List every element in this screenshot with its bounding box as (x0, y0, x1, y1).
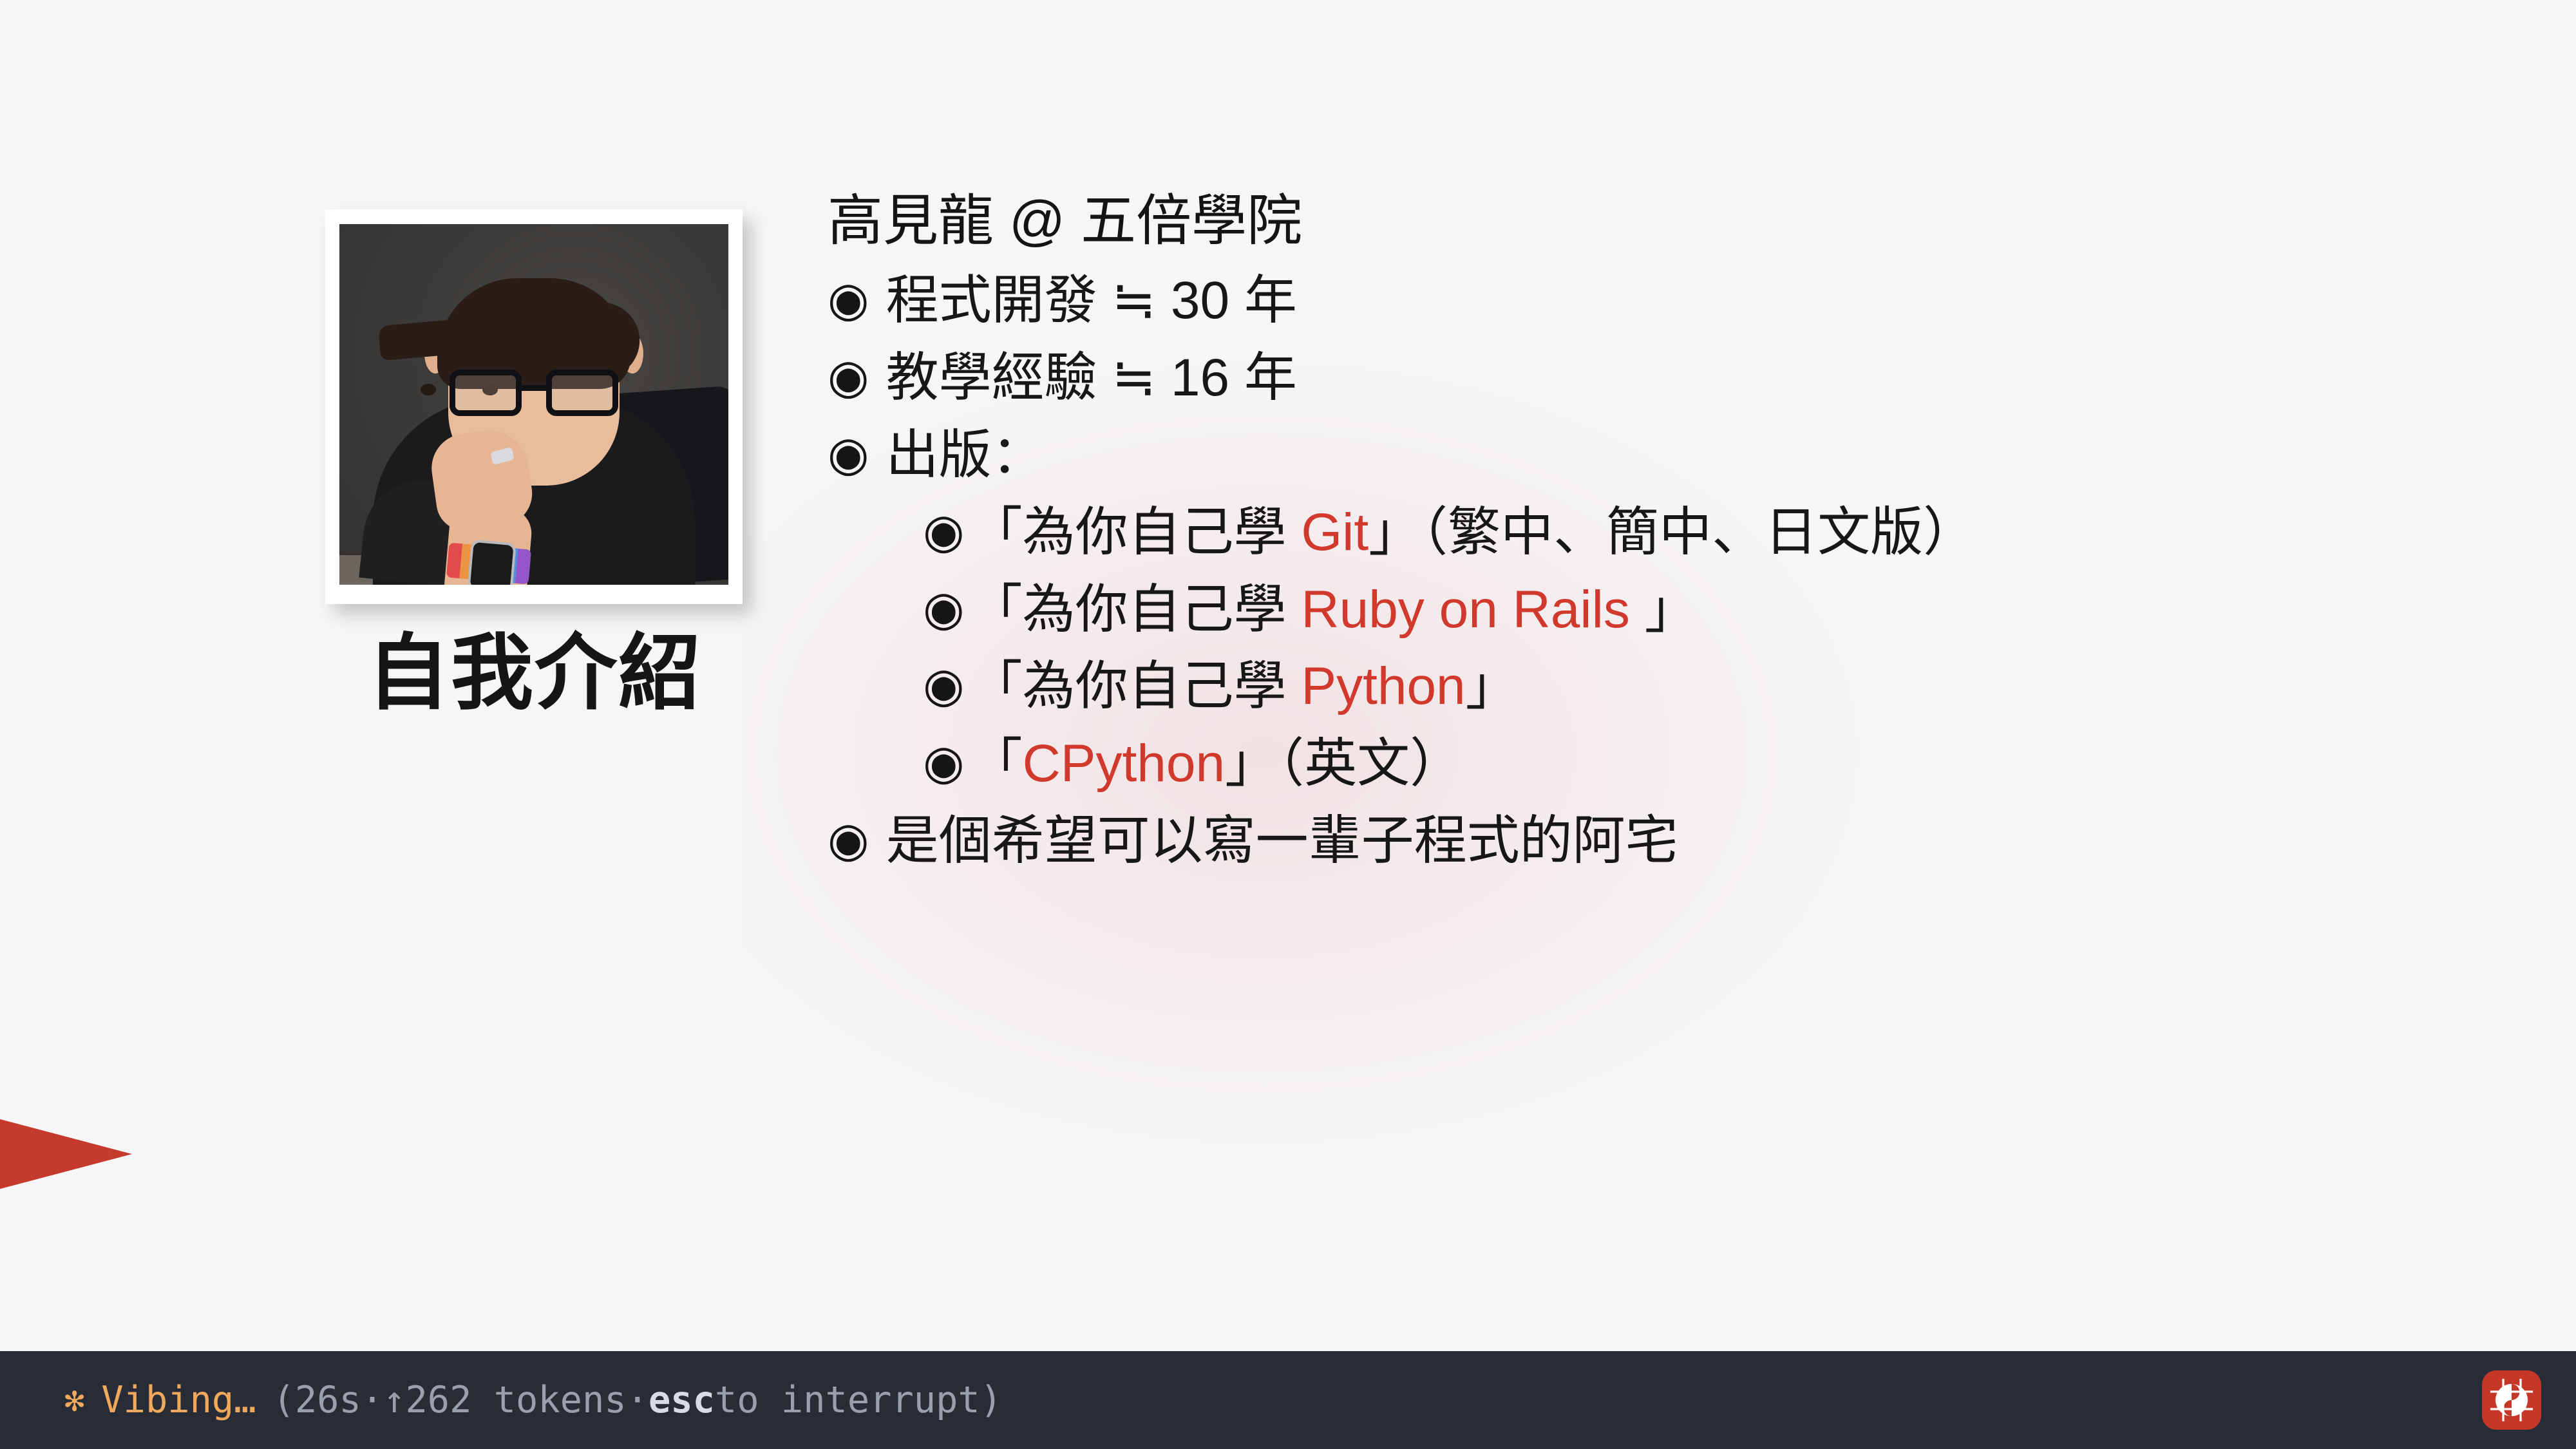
plain-text: 「為你自己學 (970, 503, 1302, 562)
separator-dot: · (361, 1379, 383, 1421)
highlighted-text: Ruby on Rails (1301, 580, 1629, 639)
slidev-logo-icon[interactable] (2482, 1370, 2541, 1430)
highlighted-text: Git (1301, 503, 1368, 562)
list-item-label: 出版： (886, 426, 1045, 485)
highlighted-text: Python (1301, 657, 1465, 715)
slide-canvas: 自我介紹 高見龍 @ 五倍學院 ◉ 程式開發 ≒ 30 年 ◉ 教學經驗 ≒ 1… (0, 0, 2576, 1351)
polaroid-photo-frame (325, 209, 743, 604)
status-message: ✻ Vibing… ( 26s · ↑ 262 tokens · esc to … (64, 1379, 1002, 1421)
left-eye-shape (421, 384, 436, 395)
status-state-label: Vibing… (101, 1379, 256, 1421)
list-item-label: 是個希望可以寫一輩子程式的阿宅 (886, 811, 1678, 871)
list-item-label: 「為你自己學 Ruby on Rails 」 (970, 580, 1698, 639)
list-item: ◉ 出版： (828, 426, 2553, 485)
fisheye-bullet-icon: ◉ (923, 734, 965, 790)
list-item-label: 程式開發 ≒ 30 年 (886, 271, 1297, 330)
portrait-photo (339, 224, 728, 585)
right-lens-shape (546, 370, 618, 416)
list-item-label: 「為你自己學 Git」（繁中、簡中、日文版） (970, 503, 1976, 562)
fisheye-bullet-icon: ◉ (828, 426, 869, 482)
right-column: 高見龍 @ 五倍學院 ◉ 程式開發 ≒ 30 年 ◉ 教學經驗 ≒ 16 年 ◉… (828, 190, 2553, 871)
up-arrow-icon: ↑ (383, 1379, 405, 1421)
left-column: 自我介紹 (325, 209, 744, 721)
red-triangle-marker-icon (0, 1114, 132, 1194)
spinner-icon: ✻ (64, 1383, 84, 1417)
highlighted-text: CPython (1023, 734, 1226, 793)
list-item: ◉ 是個希望可以寫一輩子程式的阿宅 (828, 811, 2553, 871)
list-item: ◉ 「為你自己學 Ruby on Rails 」 (923, 580, 2553, 639)
fisheye-bullet-icon: ◉ (923, 503, 965, 559)
esc-key-hint[interactable]: esc (649, 1379, 715, 1421)
glasses-bridge-shape (522, 385, 547, 391)
plain-text: 「為你自己學 (970, 580, 1302, 639)
open-paren: ( (273, 1379, 295, 1421)
list-item: ◉ 教學經驗 ≒ 16 年 (828, 348, 2553, 408)
plain-text: 」（英文） (1225, 734, 1463, 793)
fisheye-bullet-icon: ◉ (828, 271, 869, 327)
list-item: ◉ 「為你自己學 Git」（繁中、簡中、日文版） (923, 503, 2553, 562)
glasses-icon (450, 370, 618, 416)
plain-text: 」（繁中、簡中、日文版） (1368, 503, 1976, 562)
list-item-label: 「CPython」（英文） (970, 734, 1463, 793)
fisheye-bullet-icon: ◉ (828, 348, 869, 404)
token-count: 262 tokens (405, 1379, 626, 1421)
fisheye-bullet-icon: ◉ (923, 580, 965, 636)
fisheye-bullet-icon: ◉ (923, 657, 965, 713)
plain-text: 「 (970, 734, 1023, 793)
elapsed-time: 26s (295, 1379, 361, 1421)
page-title: 自我介紹 (325, 626, 744, 721)
separator-dot: · (627, 1379, 649, 1421)
plain-text: 」 (1466, 657, 1519, 715)
plain-text: 「為你自己學 (970, 657, 1302, 715)
close-paren: ) (980, 1379, 1002, 1421)
nested-bullet-list: ◉ 「為你自己學 Git」（繁中、簡中、日文版） ◉ 「為你自己學 Ruby o… (923, 503, 2553, 793)
left-lens-shape (450, 370, 522, 416)
plain-text: 」 (1630, 580, 1698, 639)
list-item-label: 「為你自己學 Python」 (970, 657, 1519, 716)
rainbow-watch-shape (446, 543, 531, 585)
author-line: 高見龍 @ 五倍學院 (828, 190, 2553, 252)
bullet-list: ◉ 程式開發 ≒ 30 年 ◉ 教學經驗 ≒ 16 年 ◉ 出版： ◉ 「為你自… (828, 271, 2553, 871)
fisheye-bullet-icon: ◉ (828, 811, 869, 867)
list-item: ◉ 程式開發 ≒ 30 年 (828, 271, 2553, 330)
terminal-status-bar: ✻ Vibing… ( 26s · ↑ 262 tokens · esc to … (0, 1351, 2576, 1449)
list-item-label: 教學經驗 ≒ 16 年 (886, 348, 1297, 408)
nested-list-wrapper: ◉ 「為你自己學 Git」（繁中、簡中、日文版） ◉ 「為你自己學 Ruby o… (828, 503, 2553, 793)
list-item: ◉ 「為你自己學 Python」 (923, 657, 2553, 716)
interrupt-hint: to interrupt (715, 1379, 980, 1421)
list-item: ◉ 「CPython」（英文） (923, 734, 2553, 793)
